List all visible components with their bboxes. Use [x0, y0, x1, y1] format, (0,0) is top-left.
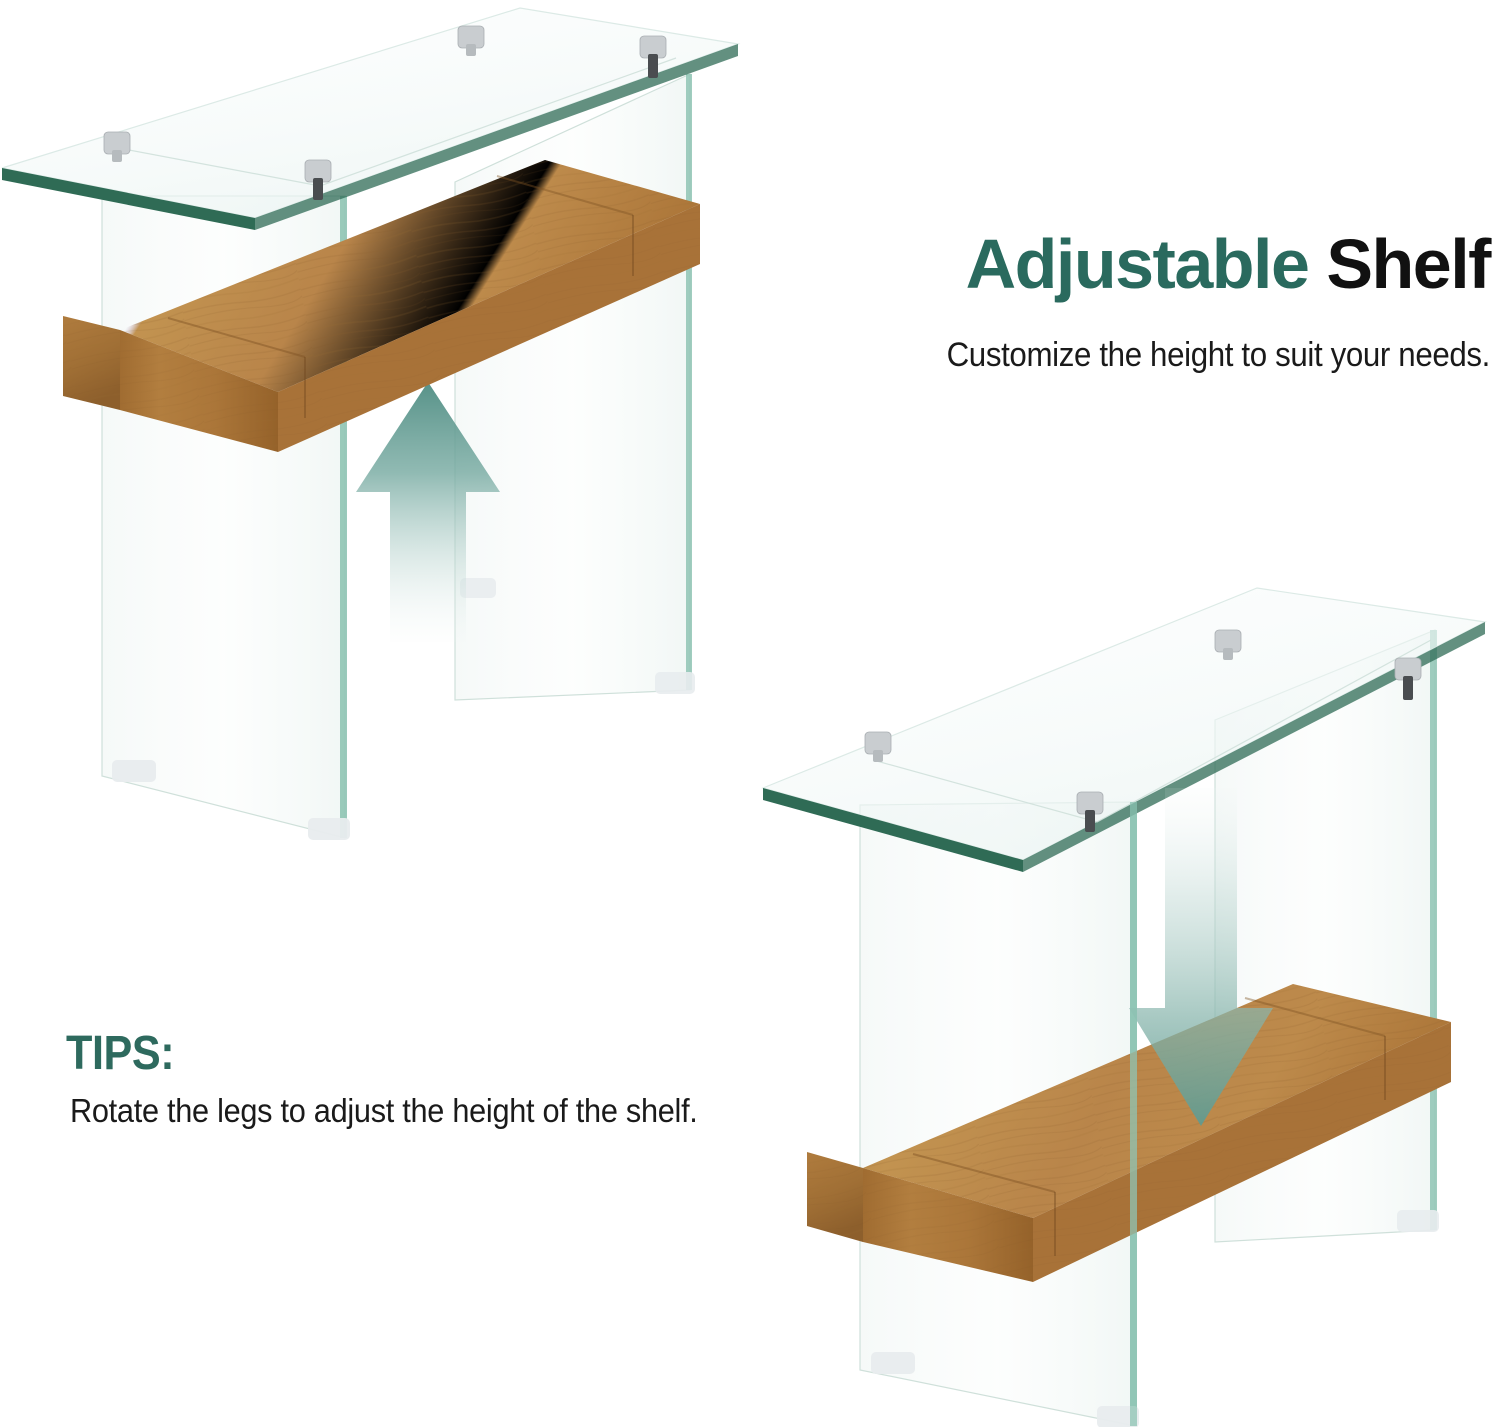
- headline-accent: Adjustable: [966, 225, 1309, 303]
- headline: Adjustable Shelf: [700, 228, 1490, 302]
- subheadline: Customize the height to suit your needs.: [708, 336, 1490, 375]
- tips-body: Rotate the legs to adjust the height of …: [70, 1092, 698, 1130]
- tips-title: TIPS:: [66, 1026, 174, 1081]
- glass-leg-front-edge: [1130, 802, 1137, 1426]
- product-console-table-shelf-lowered: [745, 570, 1500, 1427]
- product-console-table-shelf-raised: [0, 0, 760, 960]
- headline-plain: Shelf: [1326, 225, 1490, 303]
- glass-leg-back: [455, 74, 695, 700]
- product-feature-image: Adjustable Shelf Customize the height to…: [0, 0, 1500, 1427]
